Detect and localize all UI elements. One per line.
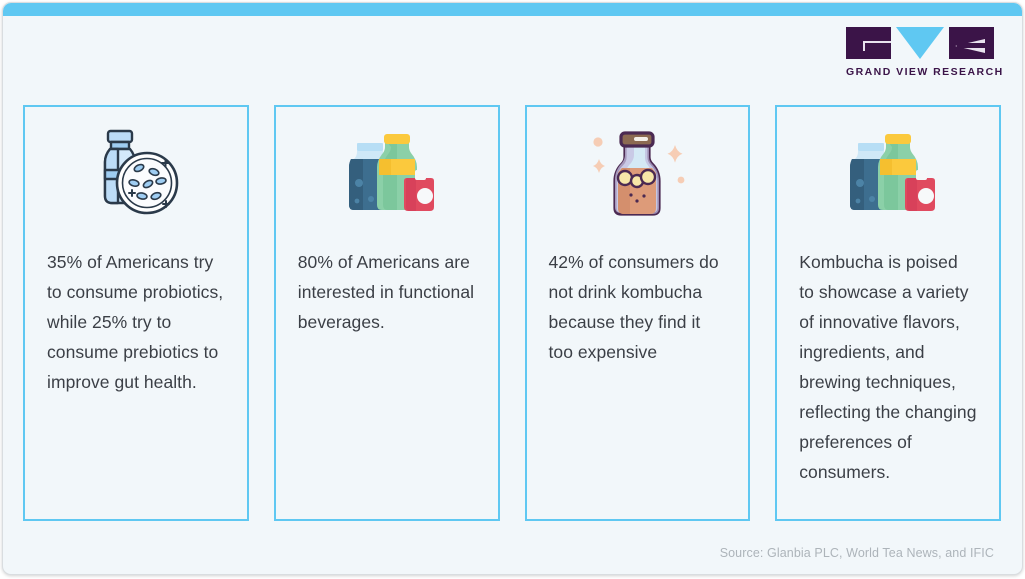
logo-triangle-v-icon <box>896 27 944 59</box>
stat-card-3: 42% of consumers do not drink kombucha b… <box>525 105 751 521</box>
stat-card-2-text: 80% of Americans are interested in funct… <box>298 247 476 337</box>
stat-card-4: Kombucha is poised to showcase a variety… <box>775 105 1001 521</box>
top-accent-bar <box>3 3 1022 16</box>
grand-view-research-logo: GRAND VIEW RESEARCH <box>846 27 994 77</box>
probiotic-bottle-petri-dish-icon <box>47 125 225 221</box>
stat-card-1: 35% of Americans try to consume probioti… <box>23 105 249 521</box>
logo-marks <box>846 27 994 59</box>
stat-card-3-text: 42% of consumers do not drink kombucha b… <box>549 247 727 367</box>
infographic-container: GRAND VIEW RESEARCH <box>2 2 1023 575</box>
source-note: Source: Glanbia PLC, World Tea News, and… <box>720 546 994 560</box>
logo-r-cut <box>957 43 989 48</box>
stat-card-2: 80% of Americans are interested in funct… <box>274 105 500 521</box>
logo-wordmark: GRAND VIEW RESEARCH <box>846 66 994 78</box>
stat-card-1-text: 35% of Americans try to consume probioti… <box>47 247 225 397</box>
functional-beverages-bottles-icon <box>298 125 476 221</box>
logo-g-notch <box>863 41 891 51</box>
kombucha-bottle-icon <box>549 125 727 221</box>
stat-card-4-text: Kombucha is poised to showcase a variety… <box>799 247 977 487</box>
functional-beverages-bottles-icon <box>799 125 977 221</box>
logo-block-r-icon <box>949 27 994 59</box>
stats-cards-row: 35% of Americans try to consume probioti… <box>23 105 1001 521</box>
logo-block-g-icon <box>846 27 891 59</box>
